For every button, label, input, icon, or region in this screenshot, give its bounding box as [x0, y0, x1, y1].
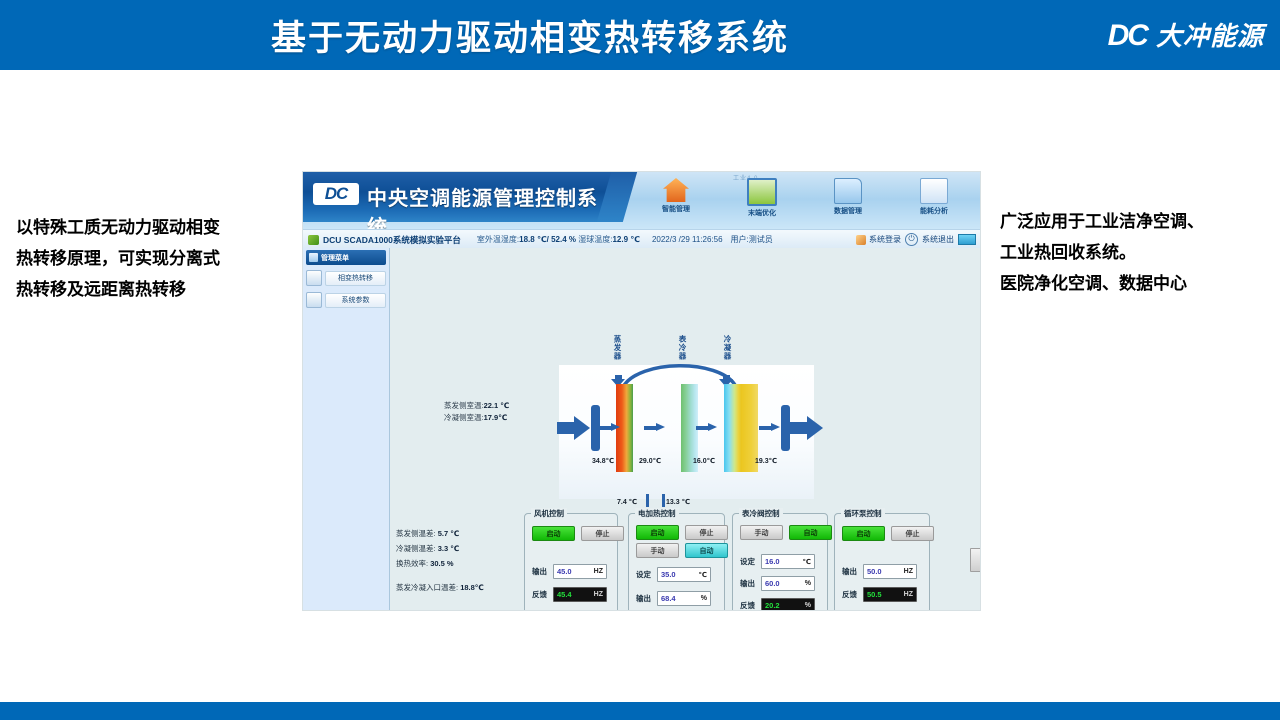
- bottom-tick-1: [646, 494, 649, 507]
- coil-label-evaporator: 蒸发器: [612, 335, 623, 361]
- pump-output-value: 50.0: [867, 567, 882, 576]
- air-temp-0: 34.8℃: [592, 457, 614, 465]
- company-logo: DC 大冲能源: [1108, 16, 1264, 56]
- vertical-scrollbar[interactable]: [970, 548, 981, 572]
- bottom-temp-1: 13.3 ℃: [666, 498, 690, 506]
- heater-setpoint-unit: ℃: [699, 571, 707, 579]
- heater-auto-button[interactable]: 自动: [685, 543, 728, 558]
- pump-feedback-field: 50.5 HZ: [863, 587, 917, 602]
- flow-arrow-1: [599, 423, 621, 432]
- pump-feedback-unit: HZ: [904, 591, 913, 598]
- app-icon: [308, 235, 319, 245]
- control-title-0: 风机控制: [531, 508, 567, 519]
- pump-start-button[interactable]: 启动: [842, 526, 885, 541]
- heater-manual-button[interactable]: 手动: [636, 543, 679, 558]
- status-user-value: 测试员: [749, 235, 773, 244]
- control-title-1: 电加热控制: [635, 508, 679, 519]
- status-actions: 系统登录 ⏻ 系统退出: [856, 233, 981, 246]
- node-icon: [306, 270, 322, 286]
- sidebar-item-system-params[interactable]: 系统参数: [306, 291, 386, 309]
- valve-feedback-unit: %: [805, 602, 811, 609]
- caption-right-line-3: 医院净化空调、数据中心: [1000, 268, 1276, 299]
- evap-room-value: 22.1 ℃: [484, 401, 510, 410]
- control-group-electric-heater: 电加热控制 启动 停止 手动 自动 设定 35.0 ℃ 输出: [628, 513, 725, 611]
- nav-label-1: 末端优化: [719, 208, 805, 218]
- evap-room-label: 蒸发侧室温:: [444, 401, 484, 410]
- slide: 基于无动力驱动相变热转移系统 DC 大冲能源 以特殊工质无动力驱动相变 热转移原…: [0, 0, 1280, 720]
- caption-right: 广泛应用于工业洁净空调、 工业热回收系统。 医院净化空调、数据中心: [1000, 206, 1276, 299]
- system-login-button[interactable]: 系统登录: [856, 234, 901, 245]
- heater-start-button[interactable]: 启动: [636, 525, 679, 540]
- chart-icon: [920, 178, 948, 204]
- caption-right-line-1: 广泛应用于工业洁净空调、: [1000, 206, 1276, 237]
- caption-left-line-2: 热转移原理，可实现分离式: [16, 243, 291, 274]
- heater-stop-button[interactable]: 停止: [685, 525, 728, 540]
- air-temp-1: 29.0℃: [639, 457, 661, 465]
- supply-air-arrow: [557, 416, 590, 440]
- flow-arrow-2: [644, 423, 666, 432]
- process-diagram: 蒸发器 表冷器 冷凝器: [559, 365, 814, 499]
- coil-label-cooling: 表冷器: [677, 335, 688, 361]
- readout-row-3: 蒸发冷凝入口温差: 18.8℃: [396, 580, 484, 595]
- pump-output-unit: HZ: [904, 568, 913, 575]
- pump-feedback-label: 反馈: [842, 589, 857, 600]
- logo-mark: DC: [1108, 21, 1147, 51]
- cond-room-row: 冷凝侧室温:17.9℃: [444, 412, 509, 424]
- heater-output-unit: %: [701, 595, 707, 602]
- bottom-temp-0: 7.4 ℃: [617, 498, 637, 506]
- readout-row-1: 冷凝侧温差: 3.3 ℃: [396, 541, 484, 556]
- status-outdoor-humidity: 52.4 %: [551, 235, 576, 244]
- fan-output-field[interactable]: 45.0 HZ: [553, 564, 607, 579]
- bottom-bar: [0, 702, 1280, 720]
- valve-output-label: 输出: [740, 578, 755, 589]
- condenser-coil: [724, 384, 741, 472]
- pump-stop-button[interactable]: 停止: [891, 526, 934, 541]
- fan-start-button[interactable]: 启动: [532, 526, 575, 541]
- fan-output-label: 输出: [532, 566, 547, 577]
- valve-setpoint-unit: ℃: [803, 558, 811, 566]
- valve-feedback-label: 反馈: [740, 600, 755, 611]
- power-icon: ⏻: [905, 233, 918, 246]
- caption-left-line-3: 热转移及远距离热转移: [16, 274, 291, 305]
- sidebar-item-label-1: 系统参数: [325, 293, 386, 308]
- user-icon: [856, 235, 866, 245]
- pump-feedback-value: 50.5: [867, 590, 882, 599]
- fan-feedback-field: 45.4 HZ: [553, 587, 607, 602]
- evap-room-row: 蒸发侧室温:22.1 ℃: [444, 400, 509, 412]
- control-group-fan: 风机控制 启动 停止 输出 45.0 HZ 反馈 45.4 HZ: [524, 513, 618, 611]
- control-title-3: 循环泵控制: [841, 508, 885, 519]
- readout-value-0: 5.7 ℃: [438, 529, 460, 538]
- status-outdoor: 室外温湿度:18.8 ℃/ 52.4 % 湿球温度:12.9 ℃: [477, 234, 640, 245]
- valve-output-unit: %: [805, 580, 811, 587]
- readout-value-1: 3.3 ℃: [438, 544, 460, 553]
- cond-room-value: 17.9℃: [484, 413, 508, 422]
- pump-output-field[interactable]: 50.0 HZ: [863, 564, 917, 579]
- control-title-2: 表冷阀控制: [739, 508, 783, 519]
- caption-left-line-1: 以特殊工质无动力驱动相变: [16, 212, 291, 243]
- flow-arrow-3: [696, 423, 718, 432]
- status-user-label: 用户:: [731, 235, 749, 244]
- status-outdoor-temp: 18.8 ℃/: [519, 235, 549, 244]
- nav-item-terminal-optimization[interactable]: 末端优化: [719, 174, 805, 218]
- fan-feedback-label: 反馈: [532, 589, 547, 600]
- home-icon: [663, 178, 689, 202]
- status-datetime: 2022/3 /29 11:26:56: [652, 235, 723, 244]
- valve-setpoint-label: 设定: [740, 556, 755, 567]
- readout-label-0: 蒸发侧温差:: [396, 529, 436, 538]
- bottom-tick-2: [662, 494, 665, 507]
- sidebar-item-phase-change[interactable]: 相变热转移: [306, 269, 386, 287]
- scada-sidebar: 管理菜单 相变热转移 系统参数: [303, 248, 390, 611]
- status-app-name: DCU SCADA1000系统模拟实验平台: [323, 234, 461, 246]
- valve-setpoint-field[interactable]: 16.0 ℃: [761, 554, 815, 569]
- cond-room-label: 冷凝侧室温:: [444, 413, 484, 422]
- valve-manual-button[interactable]: 手动: [740, 525, 783, 540]
- scada-header-brand: DC 中央空调能源管理控制系统: [303, 172, 615, 222]
- sidebar-item-label-0: 相变热转移: [325, 271, 386, 286]
- air-temp-3: 19.3℃: [755, 457, 777, 465]
- nav-label-3: 能耗分析: [891, 206, 977, 216]
- node-icon: [306, 292, 322, 308]
- heater-setpoint-label: 设定: [636, 569, 651, 580]
- valve-feedback-value: 20.2: [765, 601, 780, 610]
- return-air-arrow: [790, 416, 823, 440]
- title-banner: 基于无动力驱动相变热转移系统 DC 大冲能源: [0, 0, 1280, 70]
- status-chip: [958, 234, 976, 245]
- heater-output-label: 输出: [636, 593, 651, 604]
- control-group-cooling-valve: 表冷阀控制 手动 自动 设定 16.0 ℃ 输出 60.0 %: [732, 513, 828, 611]
- valve-auto-button[interactable]: 自动: [789, 525, 832, 540]
- valve-output-value: 60.0: [765, 579, 780, 588]
- status-outdoor-label: 室外温湿度:: [477, 235, 519, 244]
- scada-nav: 智能管理 末端优化 数据管理 能耗分析: [633, 174, 978, 226]
- fan-feedback-unit: HZ: [594, 591, 603, 598]
- valve-setpoint-value: 16.0: [765, 557, 780, 566]
- nav-item-energy-analysis[interactable]: 能耗分析: [891, 174, 977, 216]
- nav-label-2: 数据管理: [805, 206, 891, 216]
- sidebar-header-label: 管理菜单: [321, 253, 349, 263]
- readout-value-3: 18.8℃: [460, 583, 484, 592]
- scada-main-canvas: 蒸发侧室温:22.1 ℃ 冷凝侧室温:17.9℃ 蒸发器 表冷器 冷凝器: [390, 248, 981, 611]
- readout-value-2: 30.5 %: [430, 559, 453, 568]
- readout-label-3: 蒸发冷凝入口温差:: [396, 583, 458, 592]
- status-wetbulb-value: 12.9 ℃: [612, 235, 639, 244]
- scada-status-bar: DCU SCADA1000系统模拟实验平台 室外温湿度:18.8 ℃/ 52.4…: [303, 229, 981, 250]
- coil-label-condenser: 冷凝器: [722, 335, 733, 361]
- performance-readouts: 蒸发侧温差: 5.7 ℃ 冷凝侧温差: 3.3 ℃ 换热效率: 30.5 % 蒸…: [396, 526, 484, 595]
- fan-stop-button[interactable]: 停止: [581, 526, 624, 541]
- heater-output-field[interactable]: 68.4 %: [657, 591, 711, 606]
- readout-label-2: 换热效率:: [396, 559, 428, 568]
- flow-arrow-4: [759, 423, 781, 432]
- readout-spacer: [396, 571, 484, 580]
- system-login-label: 系统登录: [869, 234, 901, 245]
- nav-label-0: 智能管理: [633, 204, 719, 214]
- readout-label-1: 冷凝侧温差:: [396, 544, 436, 553]
- nav-item-smart-management[interactable]: 智能管理: [633, 174, 719, 214]
- scada-header: DC 中央空调能源管理控制系统 工业4.0 智能管理 末端优化 数据管理: [303, 172, 981, 229]
- system-logout-label: 系统退出: [922, 234, 954, 245]
- system-logout-button[interactable]: 系统退出: [922, 234, 954, 245]
- air-temp-2: 16.0℃: [693, 457, 715, 465]
- nav-item-data-management[interactable]: 数据管理: [805, 174, 891, 216]
- fan-feedback-value: 45.4: [557, 590, 572, 599]
- heater-setpoint-value: 35.0: [661, 570, 676, 579]
- readout-row-2: 换热效率: 30.5 %: [396, 556, 484, 571]
- page-title: 基于无动力驱动相变热转移系统: [0, 0, 1060, 70]
- scada-screenshot: DC 中央空调能源管理控制系统 工业4.0 智能管理 末端优化 数据管理: [302, 171, 981, 611]
- fan-output-unit: HZ: [594, 568, 603, 575]
- valve-output-field[interactable]: 60.0 %: [761, 576, 815, 591]
- heater-output-value: 68.4: [661, 594, 676, 603]
- readout-row-0: 蒸发侧温差: 5.7 ℃: [396, 526, 484, 541]
- caption-left: 以特殊工质无动力驱动相变 热转移原理，可实现分离式 热转移及远距离热转移: [16, 212, 291, 305]
- duct-outlet-cap: [781, 405, 790, 451]
- fan-output-value: 45.0: [557, 567, 572, 576]
- heater-setpoint-field[interactable]: 35.0 ℃: [657, 567, 711, 582]
- folder-icon: [834, 178, 862, 204]
- control-group-circulation-pump: 循环泵控制 启动 停止 输出 50.0 HZ 反馈 50.5 HZ: [834, 513, 930, 611]
- menu-icon: [309, 253, 318, 262]
- status-wetbulb-label: 湿球温度:: [578, 235, 612, 244]
- sidebar-header: 管理菜单: [306, 250, 386, 265]
- room-temperature-readout: 蒸发侧室温:22.1 ℃ 冷凝侧室温:17.9℃: [444, 400, 509, 424]
- status-user: 用户:测试员: [731, 234, 773, 245]
- valve-feedback-field: 20.2 %: [761, 598, 815, 611]
- caption-right-line-2: 工业热回收系统。: [1000, 237, 1276, 268]
- terminal-icon: [747, 178, 777, 206]
- pump-output-label: 输出: [842, 566, 857, 577]
- logo-name: 大冲能源: [1156, 23, 1264, 49]
- scada-logo: DC: [313, 183, 359, 205]
